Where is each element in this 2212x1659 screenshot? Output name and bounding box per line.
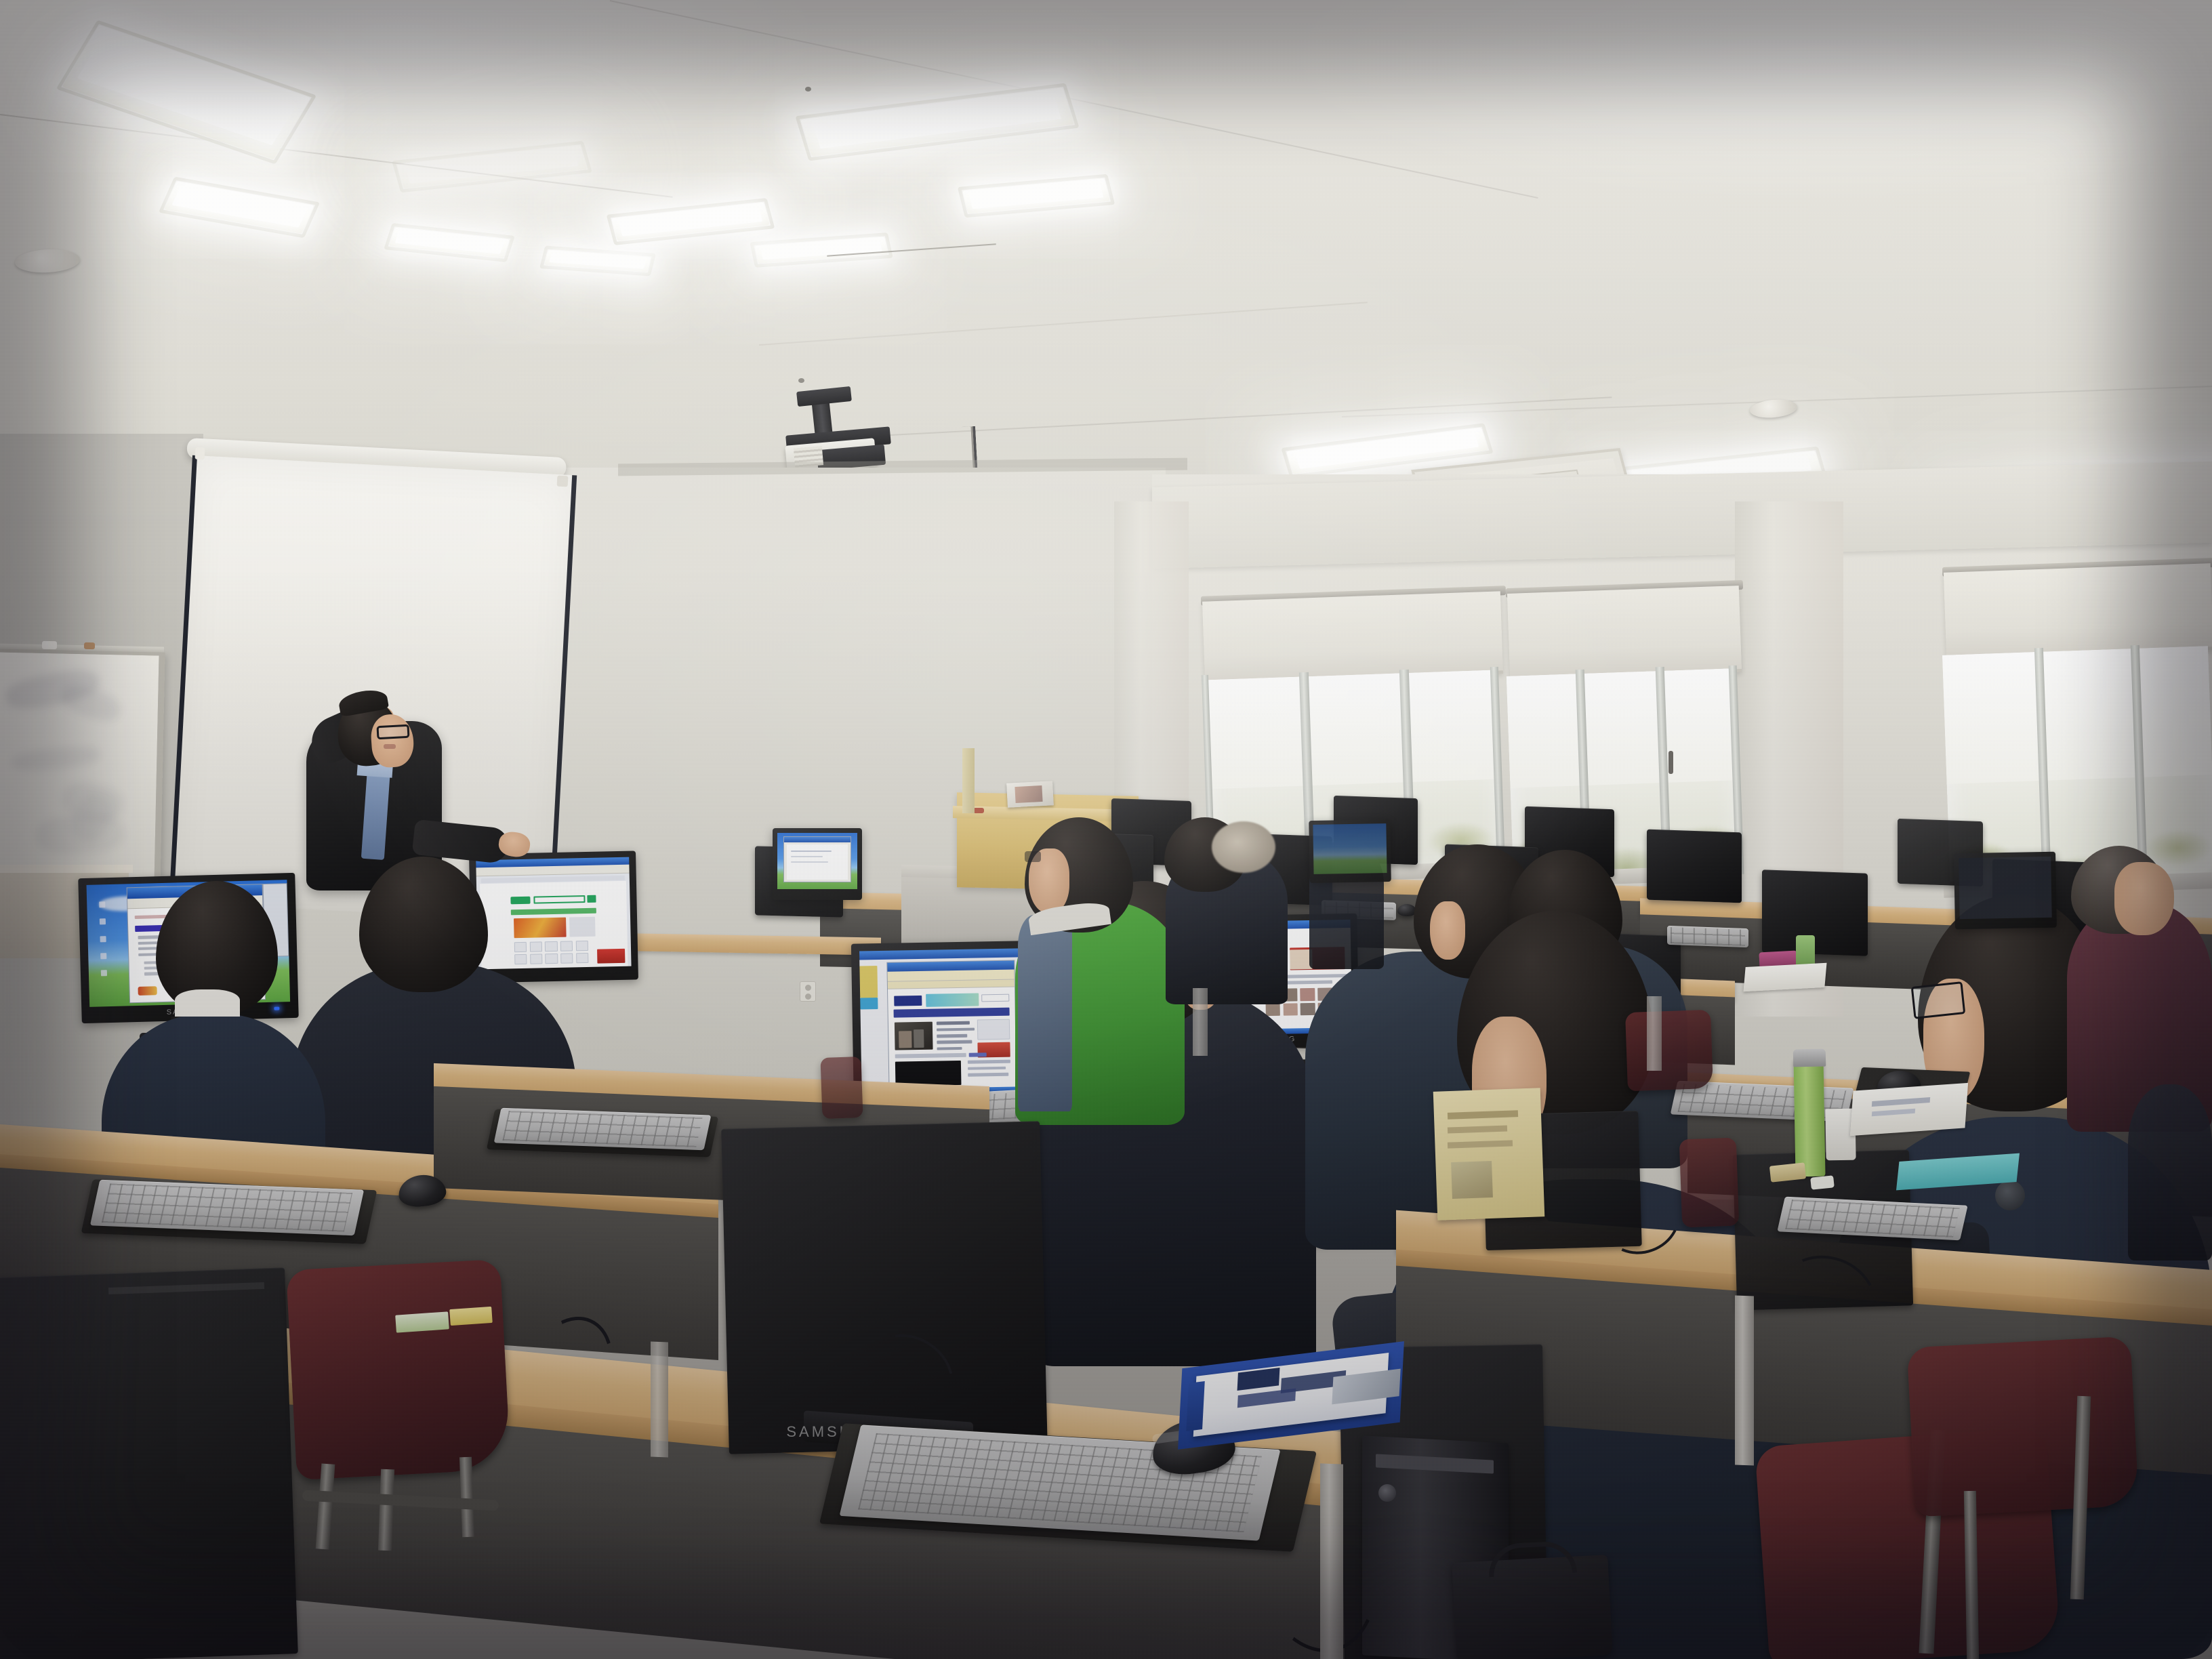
chair-right-back[interactable] bbox=[1907, 1336, 2139, 1517]
chair-asset-sticker-green bbox=[395, 1311, 449, 1332]
lectern-edge bbox=[962, 748, 975, 813]
notebook-back[interactable] bbox=[1743, 963, 1826, 991]
pc-power-button[interactable] bbox=[1378, 1484, 1396, 1502]
chair-asset-sticker-yellow bbox=[449, 1307, 493, 1326]
chair-leg bbox=[378, 1469, 394, 1551]
instructor-glasses bbox=[377, 724, 410, 739]
monitor-back[interactable] bbox=[1647, 829, 1742, 903]
monitor-back[interactable] bbox=[1762, 869, 1868, 956]
lectern-marker[interactable] bbox=[973, 808, 984, 813]
window-latch[interactable] bbox=[1668, 751, 1673, 774]
whiteboard[interactable] bbox=[0, 649, 165, 889]
thermos-bottle[interactable] bbox=[1793, 1057, 1825, 1177]
desk-leg bbox=[1647, 996, 1662, 1071]
monitor-foreground-left-back[interactable] bbox=[0, 1267, 298, 1659]
counter-top bbox=[0, 865, 133, 873]
eraser[interactable] bbox=[1810, 1175, 1835, 1189]
thermos-cap[interactable] bbox=[1793, 1049, 1826, 1067]
ceiling-mark bbox=[798, 378, 804, 383]
desk-leg bbox=[1193, 988, 1208, 1056]
screen-bracket bbox=[557, 476, 569, 487]
monitor-back-small[interactable] bbox=[1309, 819, 1391, 883]
whiteboard-marker[interactable] bbox=[42, 641, 57, 649]
ceiling-mark bbox=[805, 87, 811, 91]
fluorescent-light bbox=[755, 237, 888, 263]
chair-back-right[interactable] bbox=[1679, 1138, 1739, 1228]
chair-back-right[interactable] bbox=[1625, 1010, 1713, 1091]
booklet-cover-image bbox=[1015, 785, 1042, 803]
student-green-vest-sleeve bbox=[1018, 915, 1072, 1111]
keyboard[interactable] bbox=[1667, 926, 1748, 947]
desk-leg bbox=[1320, 1463, 1343, 1659]
desk-leg bbox=[651, 1342, 668, 1458]
window-blind[interactable] bbox=[1202, 591, 1503, 684]
instructor-mouth bbox=[384, 744, 396, 749]
keyboard-center-left[interactable] bbox=[494, 1108, 712, 1150]
whiteboard-marker[interactable] bbox=[84, 642, 95, 649]
student-maroon-face bbox=[2114, 862, 2174, 935]
student-far-right-glasses bbox=[1911, 981, 1966, 1019]
coat-button bbox=[1995, 1181, 2025, 1210]
fluorescent-light bbox=[544, 250, 651, 272]
monitor-back-small[interactable] bbox=[1954, 852, 2057, 930]
classroom-photo: SAMSUNG bbox=[0, 0, 2212, 1659]
fur-hood-trim bbox=[1212, 821, 1275, 873]
desk-leg bbox=[1735, 1296, 1754, 1466]
monitor-naver[interactable] bbox=[469, 851, 638, 983]
student-puffer-face bbox=[1430, 901, 1465, 960]
wall-outlet[interactable] bbox=[800, 981, 816, 1002]
window-blind[interactable] bbox=[1944, 563, 2212, 659]
screen-bracket bbox=[195, 447, 205, 460]
yellow-folder-image bbox=[1451, 1161, 1493, 1199]
monitor-back-left[interactable] bbox=[773, 828, 862, 900]
yellow-folder[interactable] bbox=[1433, 1088, 1545, 1220]
student-edge-right-body bbox=[2128, 1084, 2212, 1261]
textbook-spine bbox=[1186, 1381, 1205, 1431]
chair-front-left[interactable] bbox=[286, 1259, 511, 1480]
student-green-vest-glasses bbox=[1025, 851, 1041, 862]
window-blind[interactable] bbox=[1507, 586, 1742, 680]
chair-center-back[interactable] bbox=[820, 1057, 863, 1119]
student-mid-left-collar bbox=[175, 989, 240, 1017]
